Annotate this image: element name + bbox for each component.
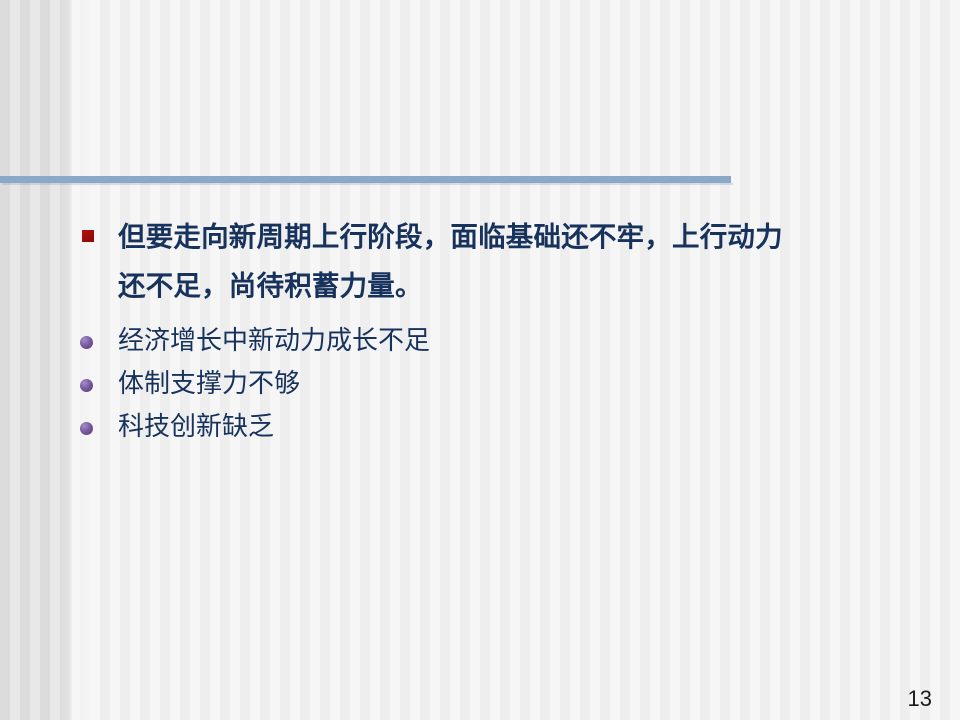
bullet-level1-line-2: 还不足，尚待积蓄力量。 xyxy=(118,261,920,310)
bullet-item-level1: 但要走向新周期上行阶段，面临基础还不牢，上行动力 还不足，尚待积蓄力量。 xyxy=(80,212,920,310)
accent-divider-shadow xyxy=(2,183,733,185)
bullet-level1-line-1: 但要走向新周期上行阶段，面临基础还不牢，上行动力 xyxy=(118,212,920,261)
bullet-list-level2: 经济增长中新动力成长不足 体制支撑力不够 科技创新缺乏 xyxy=(80,320,920,449)
bullet-level2-label-3: 科技创新缺乏 xyxy=(118,406,920,449)
slide-body-content: 但要走向新周期上行阶段，面临基础还不牢，上行动力 还不足，尚待积蓄力量。 经济增… xyxy=(80,212,920,449)
presentation-slide: 但要走向新周期上行阶段，面临基础还不牢，上行动力 还不足，尚待积蓄力量。 经济增… xyxy=(0,0,960,720)
bullet-item-level2-3: 科技创新缺乏 xyxy=(80,406,920,449)
accent-divider-line xyxy=(0,176,731,183)
bullet-level2-label-1: 经济增长中新动力成长不足 xyxy=(118,320,920,363)
round-bullet-icon xyxy=(80,422,93,435)
round-bullet-icon xyxy=(80,336,93,349)
bullet-level2-label-2: 体制支撑力不够 xyxy=(118,363,920,406)
bullet-item-level2-1: 经济增长中新动力成长不足 xyxy=(80,320,920,363)
slide-number: 13 xyxy=(908,686,932,712)
round-bullet-icon xyxy=(80,379,93,392)
bullet-item-level2-2: 体制支撑力不够 xyxy=(80,363,920,406)
square-bullet-icon xyxy=(82,230,94,242)
